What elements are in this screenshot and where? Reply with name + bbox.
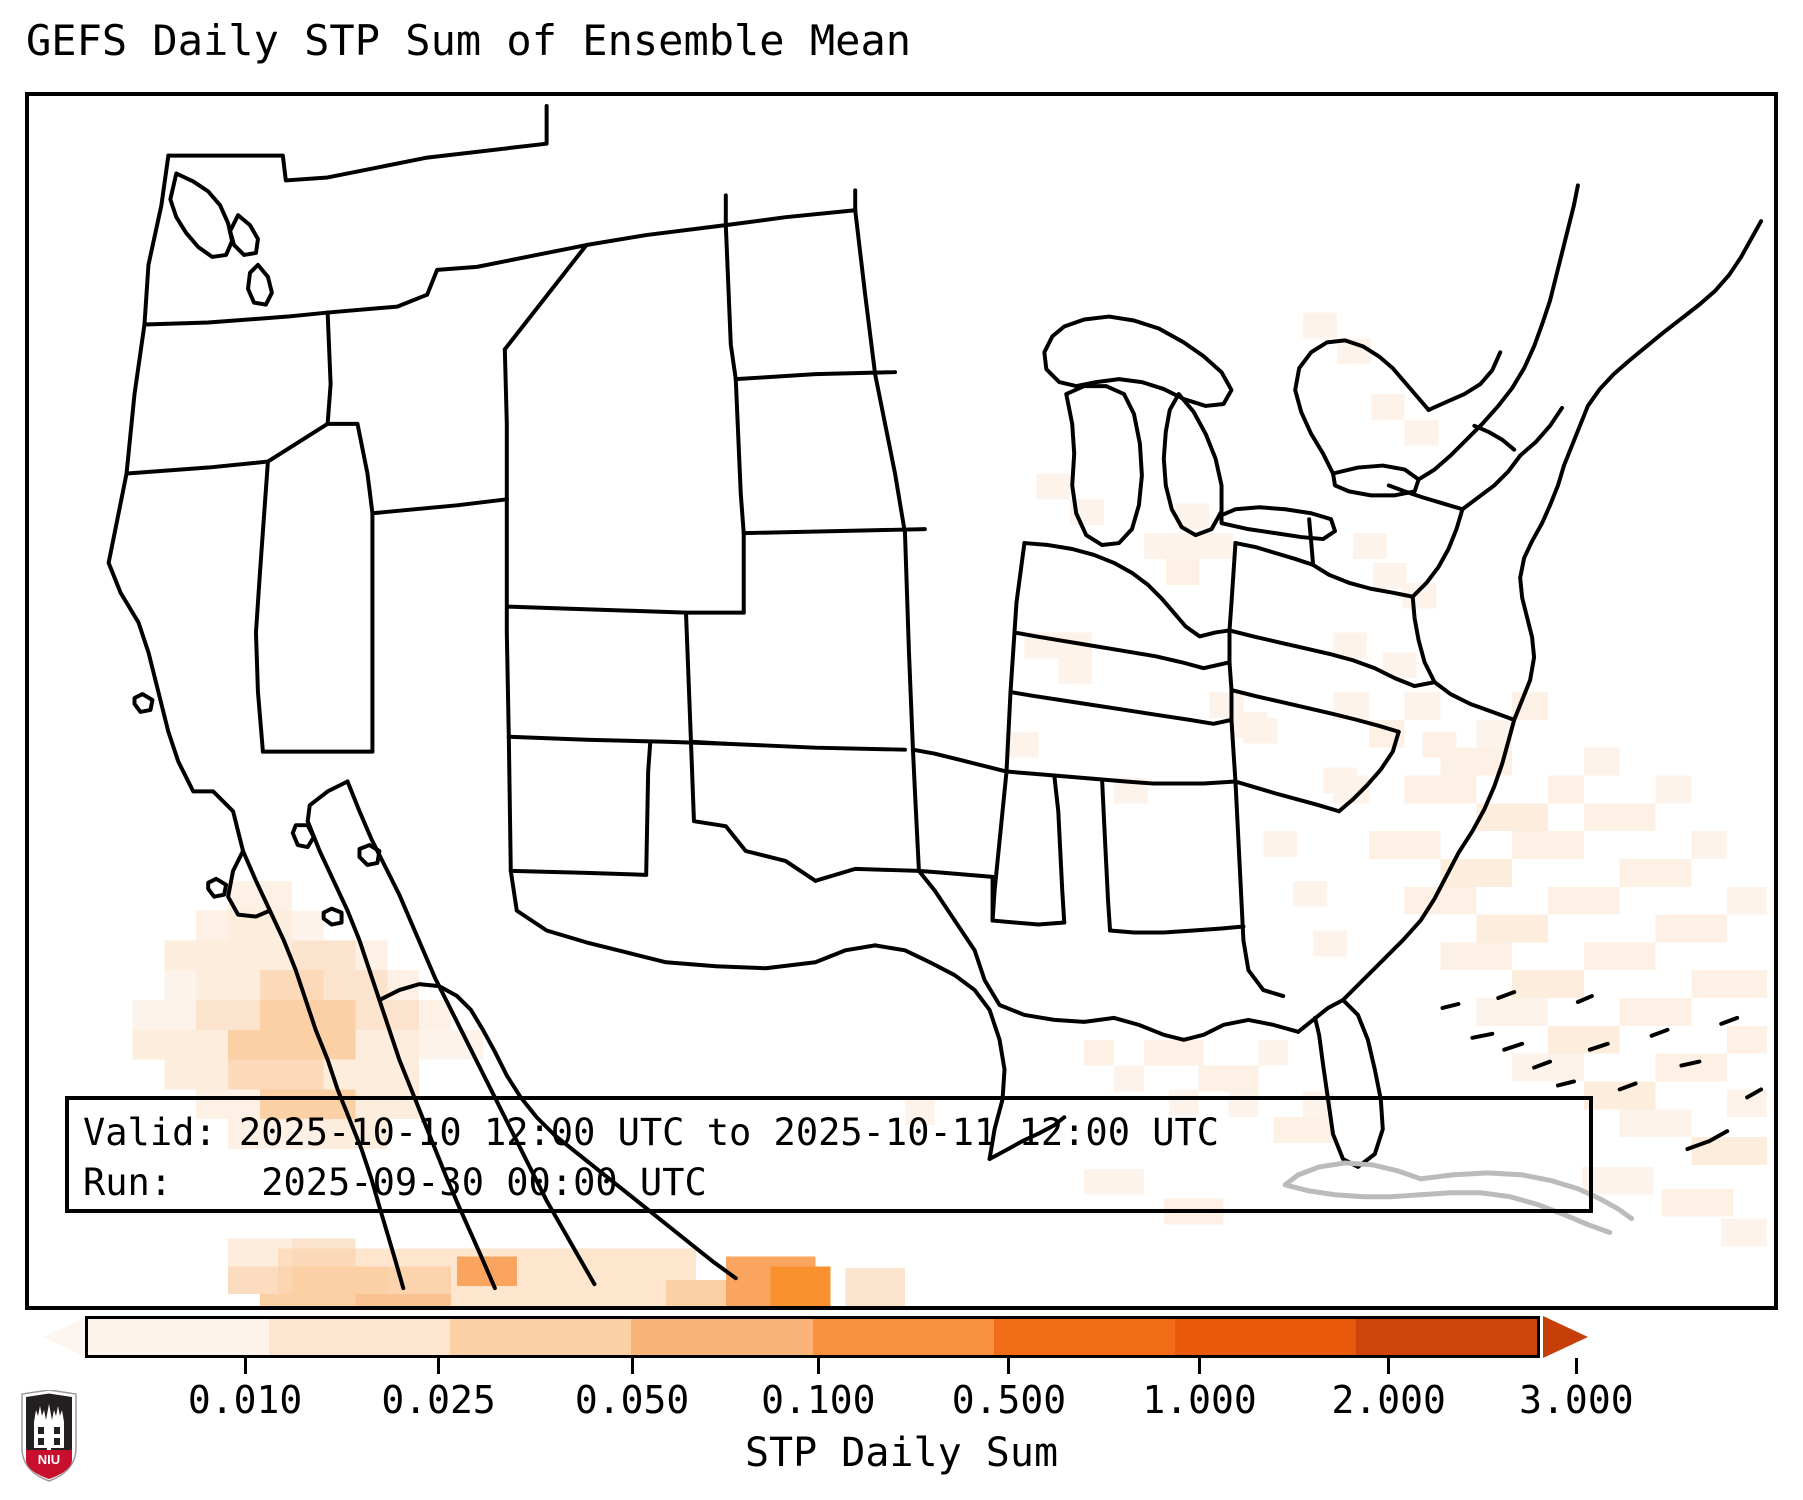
colorbar-tick-label-0: 0.010	[188, 1378, 302, 1422]
colorbar-tick-label-5: 1.000	[1142, 1378, 1256, 1422]
colorbar-axis-label: STP Daily Sum	[0, 1430, 1803, 1476]
colorbar-segment-5	[994, 1319, 1175, 1355]
colorbar-tick-6	[1387, 1358, 1390, 1374]
colorbar-gradient[interactable]	[85, 1316, 1540, 1358]
colorbar-tick-label-2: 0.050	[575, 1378, 689, 1422]
valid-line: Valid: 2025-10-10 12:00 UTC to 2025-10-1…	[83, 1108, 1575, 1158]
info-box: Valid: 2025-10-10 12:00 UTC to 2025-10-1…	[65, 1096, 1593, 1213]
colorbar-tick-3	[817, 1358, 820, 1374]
colorbar-tick-1	[437, 1358, 440, 1374]
colorbar-extend-right-arrow	[1543, 1316, 1588, 1358]
colorbar-tick-4	[1007, 1358, 1010, 1374]
colorbar-tick-label-3: 0.100	[761, 1378, 875, 1422]
colorbar-segment-1	[269, 1319, 450, 1355]
colorbar-segment-0	[88, 1319, 269, 1355]
niu-logo: NIU	[18, 1390, 80, 1482]
run-line: Run: 2025-09-30 00:00 UTC	[83, 1158, 1575, 1208]
colorbar-segment-2	[450, 1319, 631, 1355]
colorbar-segment-3	[631, 1319, 812, 1355]
colorbar-tick-0	[244, 1358, 247, 1374]
colorbar-extend-left-arrow	[43, 1316, 88, 1358]
page-title: GEFS Daily STP Sum of Ensemble Mean	[26, 16, 911, 65]
colorbar[interactable]: 0.0100.0250.0500.1000.5001.0002.0003.000	[25, 1316, 1778, 1374]
colorbar-tick-label-7: 3.000	[1519, 1378, 1633, 1422]
colorbar-tick-2	[631, 1358, 634, 1374]
colorbar-tick-label-4: 0.500	[952, 1378, 1066, 1422]
colorbar-segment-7	[1356, 1319, 1537, 1355]
colorbar-tick-label-6: 2.000	[1331, 1378, 1445, 1422]
niu-banner-text: NIU	[38, 1452, 60, 1467]
map-plot-area: Valid: 2025-10-10 12:00 UTC to 2025-10-1…	[25, 92, 1778, 1310]
colorbar-tick-5	[1198, 1358, 1201, 1374]
colorbar-tick-7	[1575, 1358, 1578, 1374]
colorbar-segment-4	[813, 1319, 994, 1355]
colorbar-tick-label-1: 0.025	[381, 1378, 495, 1422]
colorbar-segment-6	[1175, 1319, 1356, 1355]
